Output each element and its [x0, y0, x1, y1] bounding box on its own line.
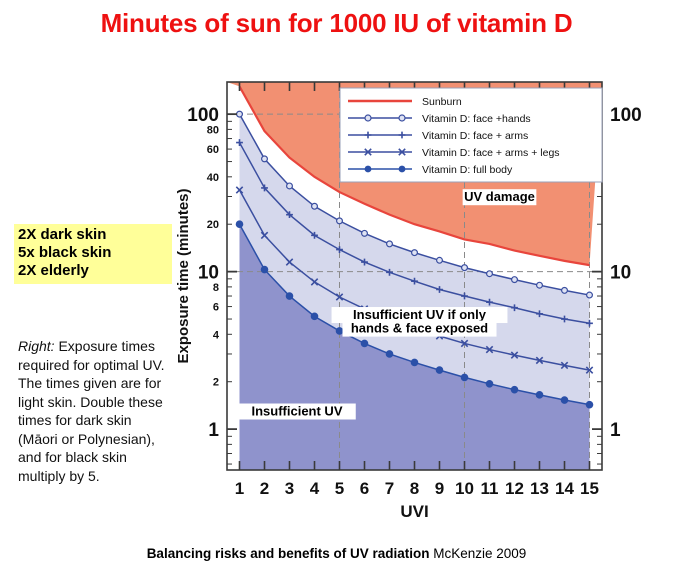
marker-filled-circle [586, 401, 593, 408]
x-axis-title: UVI [400, 502, 428, 521]
uv-damage-label: UV damage [464, 189, 535, 204]
x-axis-label: 11 [481, 479, 499, 498]
marker-open-circle [337, 218, 343, 224]
marker-filled-circle [236, 221, 243, 228]
page-title: Minutes of sun for 1000 IU of vitamin D [0, 8, 673, 39]
y-axis-label-minor: 4 [213, 329, 220, 341]
marker-open-circle [287, 183, 293, 189]
x-axis-label: 5 [335, 479, 344, 498]
legend-marker-filled-circle [399, 166, 406, 173]
y-axis-right-label: 100 [610, 105, 642, 126]
x-axis-label: 13 [530, 479, 549, 498]
y-axis-label-minor: 60 [207, 144, 219, 156]
legend-label-3: Vitamin D: face + arms + legs [422, 147, 560, 159]
y-axis-label-minor: 20 [207, 219, 219, 231]
insufficient-uv-hands-face-label-2: hands & face exposed [351, 321, 488, 336]
y-axis-label-major: 1 [208, 420, 219, 441]
marker-filled-circle [311, 313, 318, 320]
y-axis-label-major: 100 [187, 105, 219, 126]
y-axis-label-minor: 8 [213, 282, 219, 294]
x-axis-label: 9 [435, 479, 444, 498]
x-axis-label: 10 [455, 479, 474, 498]
side-note-lead: Right: [18, 338, 55, 354]
highlight-line-3: 2X elderly [18, 262, 168, 280]
marker-open-circle [362, 230, 368, 236]
marker-filled-circle [511, 386, 518, 393]
marker-open-circle [587, 292, 593, 298]
marker-open-circle [237, 111, 243, 117]
figure-caption: Balancing risks and benefits of UV radia… [0, 546, 673, 561]
highlight-callout: 2X dark skin 5x black skin 2X elderly [14, 224, 172, 284]
marker-open-circle [462, 265, 468, 271]
legend-marker-open-circle [399, 115, 405, 121]
marker-filled-circle [286, 293, 293, 300]
marker-open-circle [437, 257, 443, 263]
legend-label-1: Vitamin D: face +hands [422, 113, 531, 125]
y-axis-right-label: 10 [610, 263, 631, 284]
marker-open-circle [387, 241, 393, 247]
marker-open-circle [262, 156, 268, 162]
y-axis-label-minor: 80 [207, 124, 219, 136]
x-axis-label: 15 [580, 479, 599, 498]
marker-open-circle [487, 271, 493, 277]
legend-marker-filled-circle [365, 166, 372, 173]
marker-filled-circle [261, 266, 268, 273]
marker-filled-circle [386, 351, 393, 358]
marker-open-circle [512, 277, 518, 283]
x-axis-label: 6 [360, 479, 369, 498]
legend-label-4: Vitamin D: full body [422, 164, 513, 176]
highlight-line-2: 5x black skin [18, 244, 168, 262]
caption-normal: McKenzie 2009 [430, 546, 527, 561]
legend-marker-open-circle [365, 115, 371, 121]
y-axis-label-minor: 6 [213, 302, 219, 314]
marker-open-circle [562, 287, 568, 293]
y-axis-right-label: 1 [610, 420, 621, 441]
marker-filled-circle [436, 367, 443, 374]
y-axis-label-minor: 2 [213, 377, 219, 389]
exposure-time-chart: 1110101001002468204060801234567891011121… [170, 70, 673, 530]
x-axis-label: 3 [285, 479, 294, 498]
y-axis-label-minor: 40 [207, 172, 219, 184]
x-axis-label: 12 [505, 479, 524, 498]
marker-filled-circle [361, 340, 368, 347]
legend-label-2: Vitamin D: face + arms [422, 130, 528, 142]
x-axis-label: 1 [235, 479, 244, 498]
x-axis-label: 2 [260, 479, 269, 498]
y-axis-title: Exposure time (minutes) [175, 188, 192, 363]
marker-filled-circle [561, 397, 568, 404]
x-axis-label: 4 [310, 479, 320, 498]
legend-label-0: Sunburn [422, 96, 462, 108]
marker-filled-circle [336, 328, 343, 335]
marker-filled-circle [486, 380, 493, 387]
side-note: Right: Exposure times required for optim… [18, 337, 170, 485]
marker-open-circle [537, 282, 543, 288]
caption-bold: Balancing risks and benefits of UV radia… [147, 546, 430, 561]
x-axis-label: 7 [385, 479, 394, 498]
side-note-body: Exposure times required for optimal UV. … [18, 338, 165, 484]
marker-filled-circle [536, 392, 543, 399]
highlight-line-1: 2X dark skin [18, 226, 168, 244]
x-axis-label: 14 [555, 479, 574, 498]
y-axis-label-major: 10 [198, 263, 219, 284]
marker-filled-circle [461, 374, 468, 381]
marker-filled-circle [411, 359, 418, 366]
marker-open-circle [312, 203, 318, 209]
insufficient-uv-label: Insufficient UV [251, 404, 342, 419]
marker-open-circle [412, 250, 418, 256]
x-axis-label: 8 [410, 479, 419, 498]
chart-figure: 1110101001002468204060801234567891011121… [170, 70, 673, 530]
